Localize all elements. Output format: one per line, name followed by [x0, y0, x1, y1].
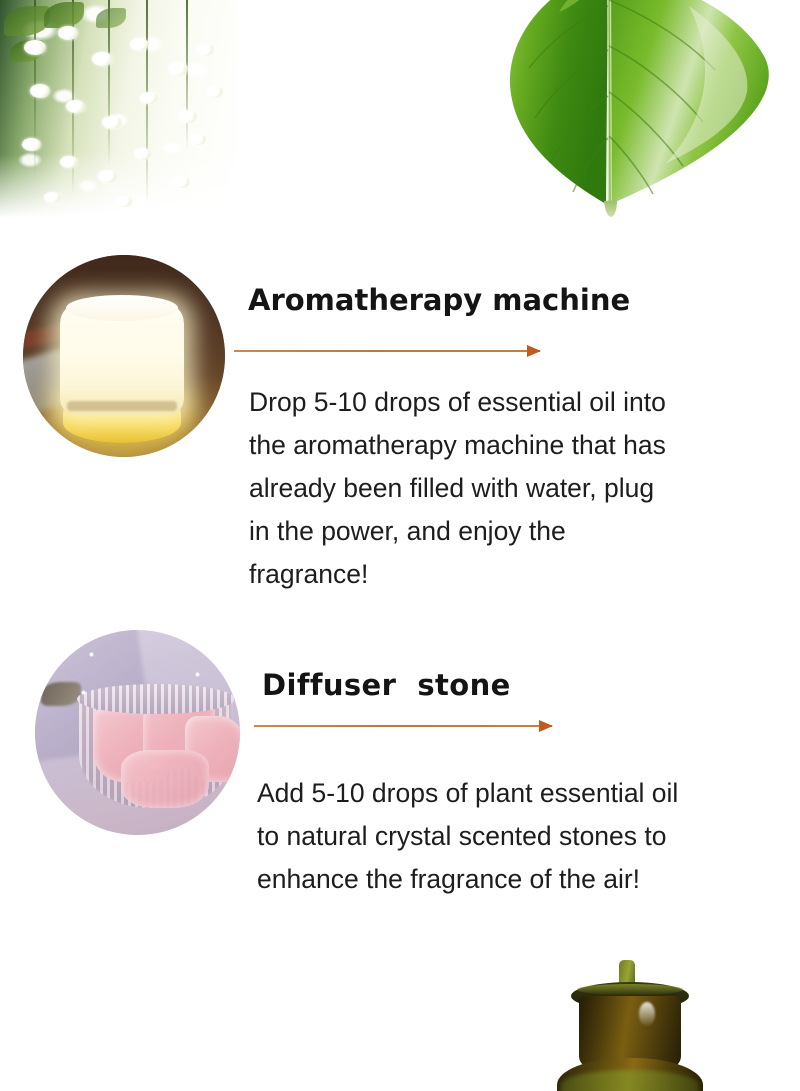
arrow-shaft — [254, 725, 552, 727]
green-leaf-photo — [489, 0, 773, 218]
arrow-head — [539, 720, 553, 732]
white-wisteria-flowers-photo — [0, 0, 237, 219]
orange-arrow-right-icon — [254, 720, 552, 732]
section-body-diffuser-stone: Add 5-10 drops of plant essential oil to… — [257, 772, 800, 901]
rose-quartz-diffuser-stone-photo — [35, 630, 240, 835]
section-body-aromatherapy-machine: Drop 5-10 drops of essential oil into th… — [249, 381, 789, 596]
arrow-shaft — [234, 350, 540, 352]
aromatherapy-diffuser-photo — [23, 255, 225, 457]
product-instruction-infographic: Aromatherapy machine Drop 5-10 drops of … — [0, 0, 800, 1091]
amber-essential-oil-bottle-photo — [543, 958, 717, 1091]
arrow-head — [527, 345, 541, 357]
section-heading-aromatherapy-machine: Aromatherapy machine — [248, 283, 630, 317]
orange-arrow-right-icon — [234, 345, 540, 357]
section-heading-diffuser-stone: Diffuser stone — [262, 668, 511, 702]
